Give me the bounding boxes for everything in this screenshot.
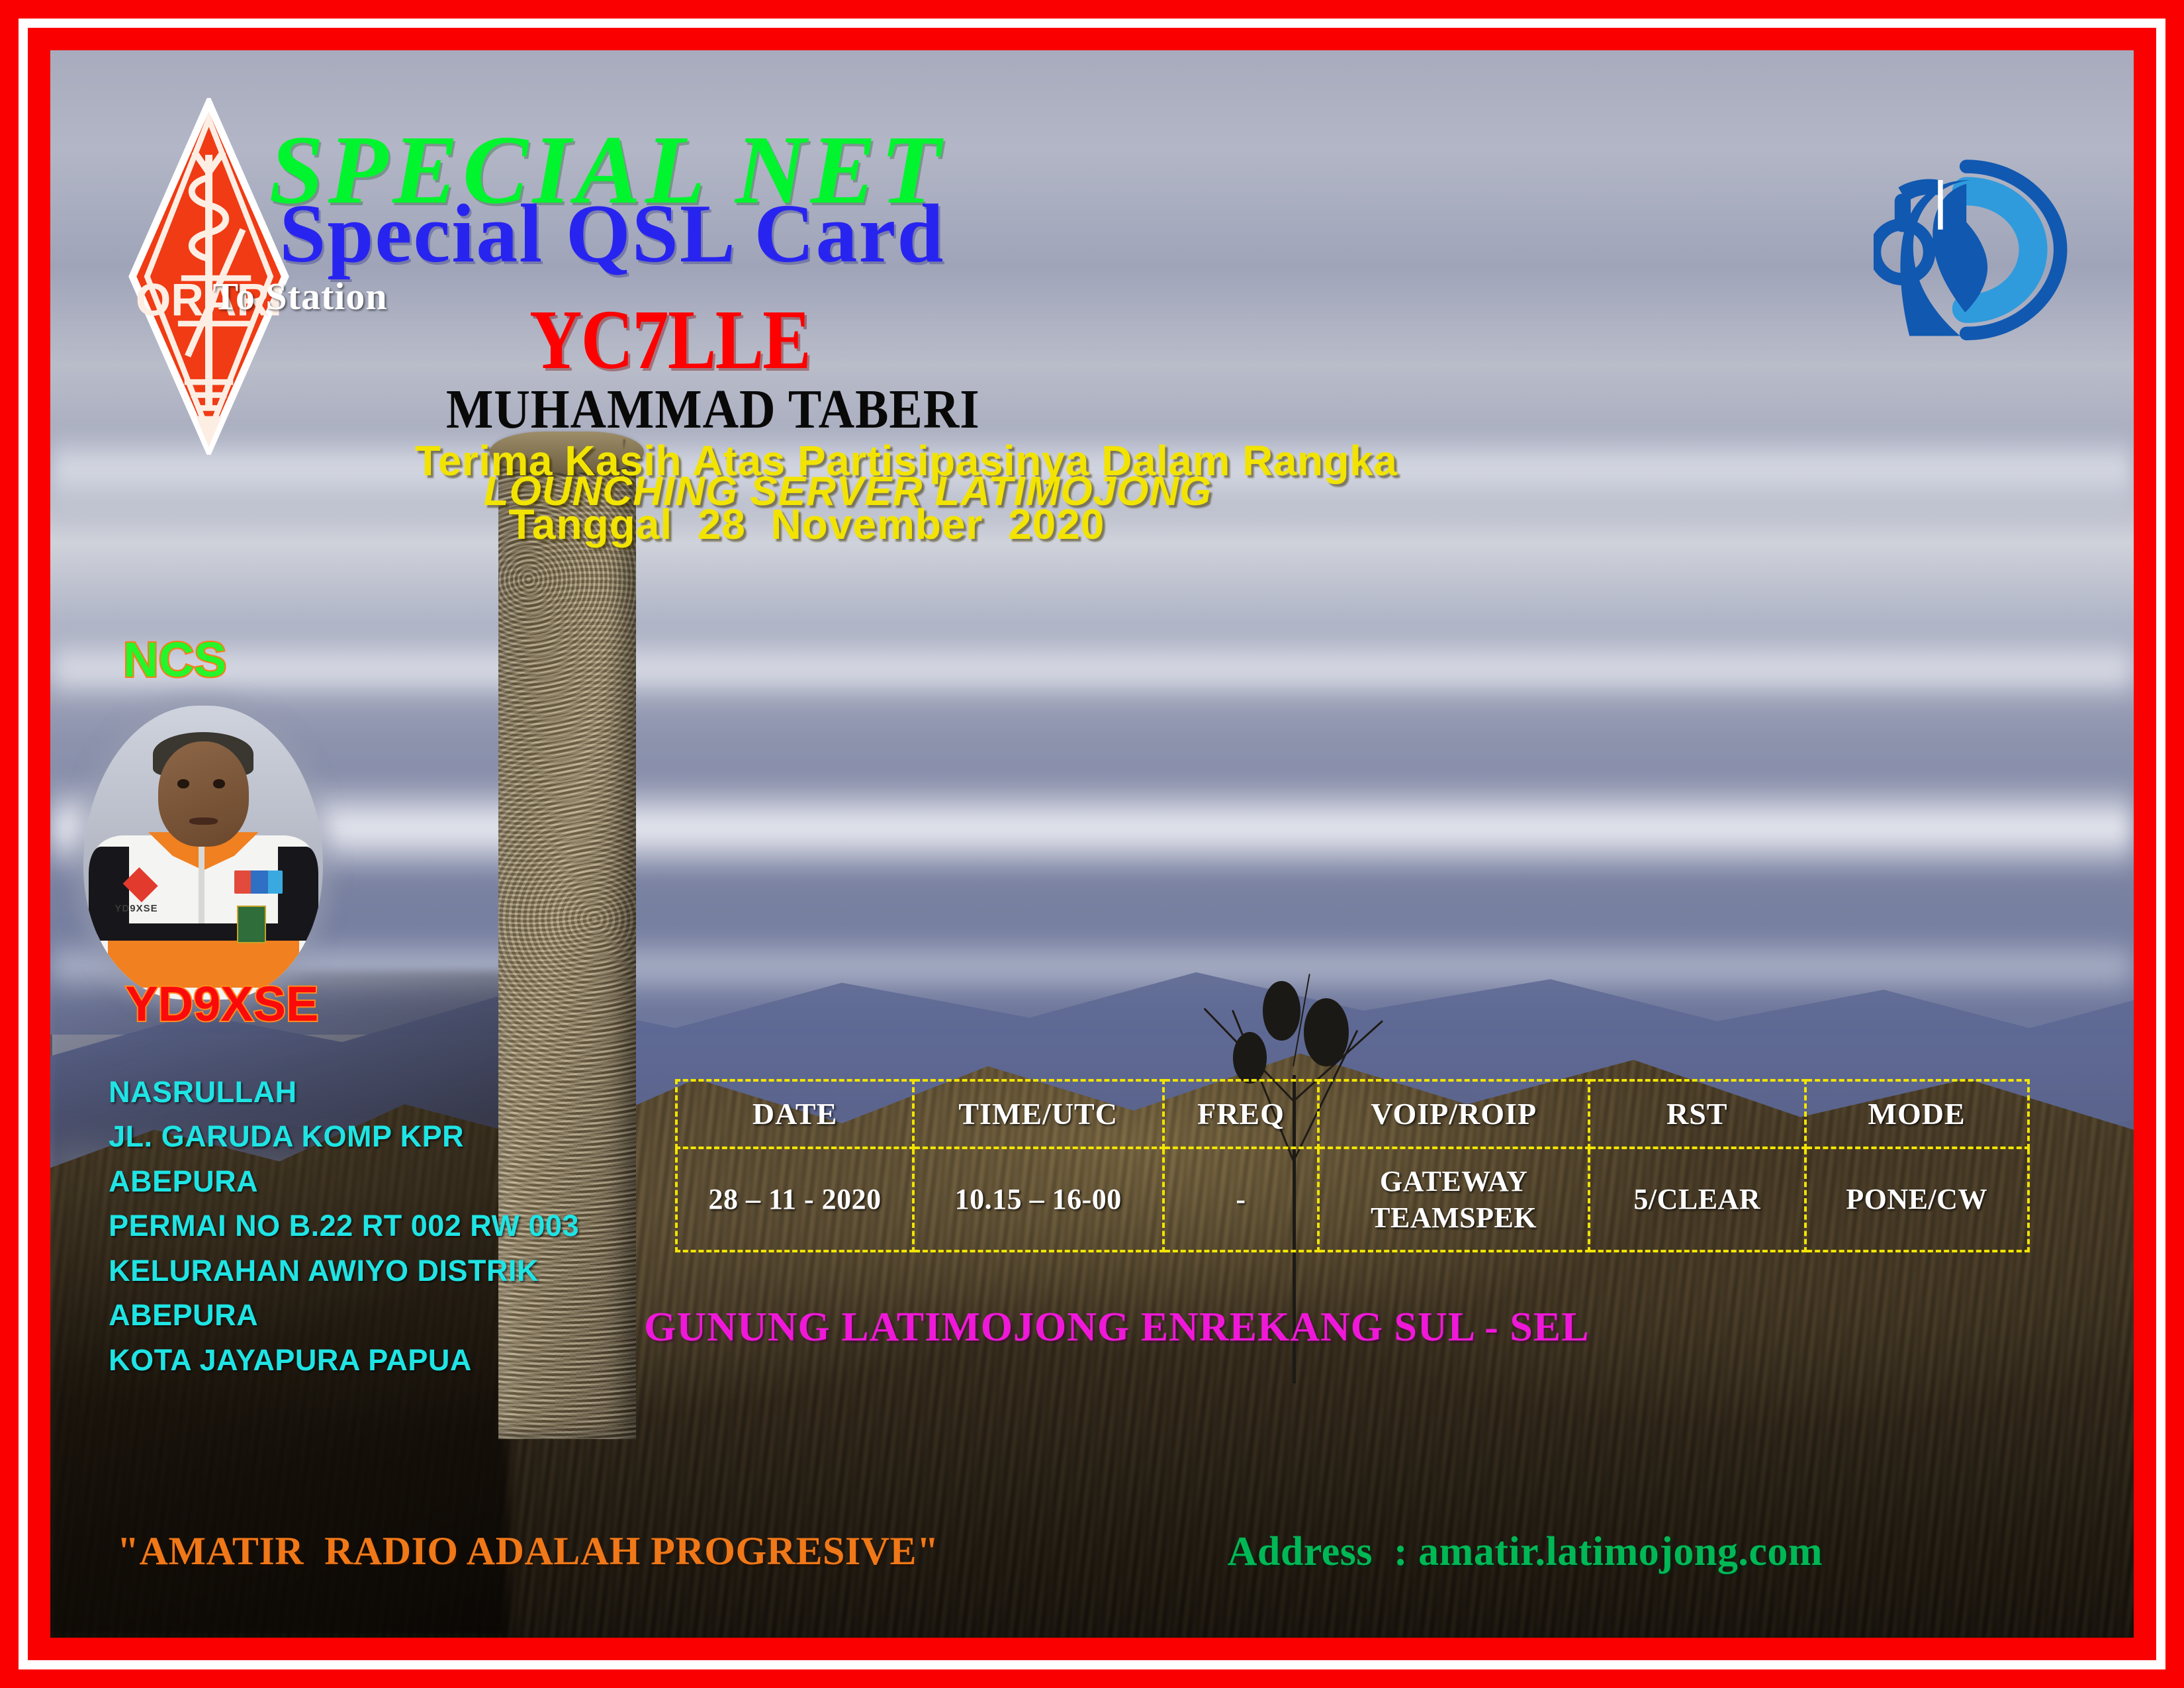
ncs-callsign: YD9XSE (125, 976, 318, 1032)
th-time-utc: TIME/UTC (913, 1080, 1163, 1148)
headphone-face-logo (1874, 117, 2071, 379)
page-subtitle-qsl-card: Special QSL Card (279, 187, 944, 282)
cell-date: 28 – 11 - 2020 (676, 1148, 913, 1251)
location-line: GUNUNG LATIMOJONG ENREKANG SUL - SEL (644, 1304, 1589, 1351)
address-line: ABEPURA (109, 1159, 579, 1204)
footer-address: Address : amatir.latimojong.com (1228, 1528, 1823, 1575)
th-mode: MODE (1805, 1080, 2028, 1148)
cell-freq: - (1163, 1148, 1319, 1251)
address-line: KOTA JAYAPURA PAPUA (109, 1338, 579, 1383)
qsl-card-white-gap: ORARI SPECIAL NET Special QSL Card To St… (19, 19, 2165, 1669)
address-line: KELURAHAN AWIYO DISTRIK (109, 1248, 579, 1293)
th-voip-roip: VOIP/ROIP (1318, 1080, 1588, 1148)
qso-log-table: DATE TIME/UTC FREQ VOIP/ROIP RST MODE 28… (675, 1079, 2029, 1252)
table-row: 28 – 11 - 2020 10.15 – 16-00 - GATEWAY T… (676, 1148, 2028, 1251)
address-line: ABEPURA (109, 1293, 579, 1338)
th-freq: FREQ (1163, 1080, 1319, 1148)
ncs-label: NCS (123, 632, 226, 688)
th-rst: RST (1589, 1080, 1805, 1148)
cloud-band (50, 637, 2134, 701)
to-station-label: To Station (213, 274, 388, 318)
qsl-card-photo-background: ORARI SPECIAL NET Special QSL Card To St… (50, 50, 2134, 1638)
cloud-band (50, 780, 2134, 876)
operator-name: MUHAMMAD TABERI (446, 377, 980, 442)
ncs-operator-portrait: YD9XSE (83, 706, 323, 1000)
cell-time-utc: 10.15 – 16-00 (913, 1148, 1163, 1251)
address-line: JL. GARUDA KOMP KPR (109, 1114, 579, 1159)
address-line: PERMAI NO B.22 RT 002 RW 003 (109, 1203, 579, 1248)
address-line: NASRULLAH (109, 1070, 579, 1115)
qsl-card-outer-frame: ORARI SPECIAL NET Special QSL Card To St… (0, 0, 2184, 1688)
qsl-card-inner-frame: ORARI SPECIAL NET Special QSL Card To St… (28, 28, 2156, 1660)
footer-motto: "AMATIR RADIO ADALAH PROGRESIVE" (117, 1528, 939, 1574)
portrait-shirt-callsign: YD9XSE (114, 903, 158, 914)
cell-rst: 5/CLEAR (1589, 1148, 1805, 1251)
cell-voip-roip: GATEWAY TEAMSPEK (1318, 1148, 1588, 1251)
station-callsign: YC7LLE (529, 291, 810, 389)
table-header-row: DATE TIME/UTC FREQ VOIP/ROIP RST MODE (676, 1080, 2028, 1148)
th-date: DATE (676, 1080, 913, 1148)
thanks-line-3: Tanggal 28 November 2020 (509, 500, 1105, 549)
cell-mode: PONE/CW (1805, 1148, 2028, 1251)
address-block: NASRULLAH JL. GARUDA KOMP KPR ABEPURA PE… (109, 1070, 579, 1383)
